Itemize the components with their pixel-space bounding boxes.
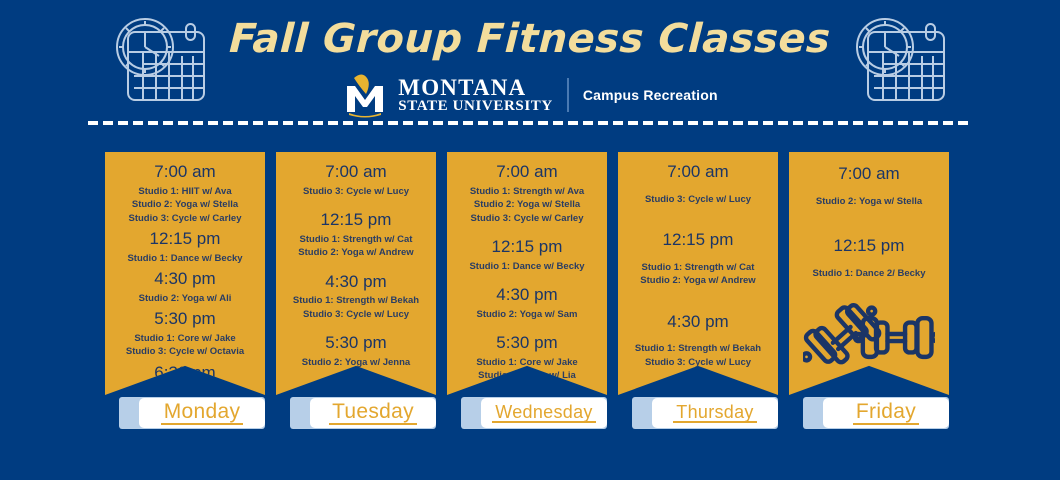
slot-class-list: Studio 2: Yoga w/ Ali [109, 292, 261, 305]
day-banner: 7:00 amStudio 3: Cycle w/ Lucy12:15 pmSt… [276, 152, 436, 395]
time-slot: 7:00 amStudio 3: Cycle w/ Lucy [280, 160, 432, 198]
time-slot: 4:30 pmStudio 1: Strength w/ BekahStudio… [280, 270, 432, 322]
slot-class-list: Studio 1: Core w/ JakeStudio 3: Cycle w/… [451, 356, 603, 383]
slot-time: 4:30 pm [622, 310, 774, 335]
day-label: Thursday [673, 403, 756, 424]
class-entry: Studio 2: Yoga w/ Stella [793, 195, 945, 208]
tab-plate: Tuesday [310, 398, 436, 428]
day-label-tab[interactable]: Tuesday [290, 397, 436, 429]
slot-time: 7:00 am [622, 160, 774, 185]
slot-class-list: Studio 2: Yoga w/ Stella [793, 195, 945, 208]
class-entry: Studio 3: Cycle w/ Octavia [109, 345, 261, 358]
class-entry: Studio 1: Strength w/ Bekah [280, 294, 432, 307]
day-label: Friday [853, 401, 919, 425]
dumbbells-icon [793, 298, 945, 370]
time-slot: 4:30 pmStudio 2: Yoga w/ Ali [109, 267, 261, 305]
class-entry: Studio 2: Yoga w/ Andrew [622, 274, 774, 287]
day-column-thursday: 7:00 amStudio 3: Cycle w/ Lucy12:15 pmSt… [618, 152, 778, 437]
slot-class-list: Studio 1: Strength w/ CatStudio 2: Yoga … [280, 233, 432, 260]
header-dashed-divider [88, 121, 972, 125]
tab-plate: Wednesday [481, 398, 607, 428]
msu-logo-icon [342, 72, 388, 118]
slot-class-list: Studio 1: Strength w/ BekahStudio 3: Cyc… [280, 294, 432, 321]
day-banner: 7:00 amStudio 1: HIIT w/ AvaStudio 2: Yo… [105, 152, 265, 395]
class-entry: Studio 1: HIIT w/ Ava [109, 185, 261, 198]
day-label: Monday [161, 401, 244, 425]
slot-time: 7:00 am [451, 160, 603, 185]
class-entry: Studio 2: Yoga w/ Ali [109, 292, 261, 305]
class-entry: Studio 1: Strength w/ Ava [451, 185, 603, 198]
weekly-schedule: 7:00 amStudio 1: HIIT w/ AvaStudio 2: Yo… [0, 152, 1060, 442]
slot-class-list: Studio 1: Dance w/ Becky [109, 252, 261, 265]
slot-class-list: Studio 2: Yoga w/ Jenna [280, 356, 432, 369]
msu-wordmark: MONTANA STATE UNIVERSITY [398, 76, 553, 114]
class-entry: Studio 3: Cycle w/ Lucy [622, 193, 774, 206]
slot-class-list: Studio 1: Core w/ JakeStudio 3: Cycle w/… [109, 332, 261, 359]
time-slot: 4:30 pmStudio 1: Strength w/ BekahStudio… [622, 310, 774, 370]
slot-class-list: Studio 1: HIIT w/ AvaStudio 2: Yoga w/ S… [109, 185, 261, 225]
tab-plate: Monday [139, 398, 265, 428]
time-slot: 12:15 pmStudio 1: Dance 2/ Becky [793, 234, 945, 280]
class-entry: Studio 1: Core w/ Jake [109, 332, 261, 345]
slot-time: 4:30 pm [451, 283, 603, 308]
day-column-monday: 7:00 amStudio 1: HIIT w/ AvaStudio 2: Yo… [105, 152, 265, 437]
day-banner: 7:00 amStudio 3: Cycle w/ Lucy12:15 pmSt… [618, 152, 778, 395]
day-label: Tuesday [329, 401, 417, 425]
slot-time: 5:30 pm [109, 307, 261, 332]
fitness-schedule-poster: Fall Group Fitness Classes MONTANA STATE… [0, 0, 1060, 480]
class-entry: Studio 1: Dance w/ Becky [109, 252, 261, 265]
class-entry: Studio 2: Yoga w/ Sam [451, 308, 603, 321]
class-entry: Studio 2: Yoga w/ Andrew [280, 246, 432, 259]
day-label-tab[interactable]: Thursday [632, 397, 778, 429]
brand-divider [567, 78, 569, 112]
class-entry: Studio 2: Yoga w/ Stella [109, 198, 261, 211]
slot-time: 6:30 pm [109, 361, 261, 386]
time-slot: 7:00 amStudio 1: Strength w/ AvaStudio 2… [451, 160, 603, 225]
class-entry: Studio 1: Core w/ Jake [451, 356, 603, 369]
tab-plate: Thursday [652, 398, 778, 428]
day-label-tab[interactable]: Friday [803, 397, 949, 429]
time-slot: 7:00 amStudio 3: Cycle w/ Lucy [622, 160, 774, 206]
slot-time: 12:15 pm [451, 235, 603, 260]
time-slot: 7:00 amStudio 2: Yoga w/ Stella [793, 162, 945, 208]
time-slot: 7:00 amStudio 1: HIIT w/ AvaStudio 2: Yo… [109, 160, 261, 225]
class-entry: Studio 1: Dance 2/ Becky [793, 267, 945, 280]
slot-time: 7:00 am [793, 162, 945, 187]
time-slot: 5:30 pmStudio 2: Yoga w/ Jenna [280, 331, 432, 369]
day-label-tab[interactable]: Wednesday [461, 397, 607, 429]
slot-time: 12:15 pm [109, 227, 261, 252]
slot-time: 7:00 am [109, 160, 261, 185]
day-column-tuesday: 7:00 amStudio 3: Cycle w/ Lucy12:15 pmSt… [276, 152, 436, 437]
class-entry: Studio 3: Cycle w/ Lucy [280, 185, 432, 198]
time-slot: 5:30 pmStudio 1: Core w/ JakeStudio 3: C… [451, 331, 603, 383]
msu-state-university-text: STATE UNIVERSITY [398, 99, 553, 114]
slot-time: 5:30 pm [451, 331, 603, 356]
slot-class-list: Studio 1: Strength w/ BekahStudio 3: Cyc… [622, 342, 774, 369]
campus-recreation-text: Campus Recreation [583, 87, 718, 103]
class-entry: Studio 3: Cycle w/ Lucy [280, 308, 432, 321]
day-column-wednesday: 7:00 amStudio 1: Strength w/ AvaStudio 2… [447, 152, 607, 437]
page-title: Fall Group Fitness Classes [0, 16, 1060, 62]
class-entry: Studio 3: Cycle w/ Lia [451, 369, 603, 382]
slot-time: 4:30 pm [109, 267, 261, 292]
slot-time: 7:00 am [280, 160, 432, 185]
class-entry: Studio 1: Dance w/ Becky [451, 260, 603, 273]
slot-class-list: Studio 1: Dance w/ Becky [451, 260, 603, 273]
slot-time: 12:15 pm [280, 208, 432, 233]
slot-class-list: Studio 1: Strength w/ AvaStudio 2: Yoga … [451, 185, 603, 225]
slot-class-list: Studio 1: Strength w/ CatStudio 2: Yoga … [622, 261, 774, 288]
slot-class-list: Studio 2: Yoga w/ Sam [451, 308, 603, 321]
day-label: Wednesday [492, 403, 595, 424]
slot-time: 12:15 pm [622, 228, 774, 253]
class-entry: Studio 1: Strength w/ Bekah [622, 342, 774, 355]
time-slot: 12:15 pmStudio 1: Dance w/ Becky [451, 235, 603, 273]
slot-class-list: Studio 3: Cycle w/ Lucy [280, 185, 432, 198]
slot-class-list: Studio 1: Dance 2/ Becky [793, 267, 945, 280]
poster-header: Fall Group Fitness Classes MONTANA STATE… [0, 0, 1060, 132]
slot-time: 12:15 pm [793, 234, 945, 259]
time-slot: 6:30 pmStudio 2: Yoga w/ Sylvie [109, 361, 261, 399]
time-slot: 12:15 pmStudio 1: Dance w/ Becky [109, 227, 261, 265]
class-entry: Studio 1: Strength w/ Cat [280, 233, 432, 246]
class-entry: Studio 3: Cycle w/ Lucy [622, 356, 774, 369]
msu-montana-text: MONTANA [398, 76, 553, 99]
day-banner: 7:00 amStudio 2: Yoga w/ Stella12:15 pmS… [789, 152, 949, 395]
day-label-tab[interactable]: Monday [119, 397, 265, 429]
class-entry: Studio 2: Yoga w/ Jenna [280, 356, 432, 369]
day-banner: 7:00 amStudio 1: Strength w/ AvaStudio 2… [447, 152, 607, 395]
time-slot: 5:30 pmStudio 1: Core w/ JakeStudio 3: C… [109, 307, 261, 359]
time-slot: 4:30 pmStudio 2: Yoga w/ Sam [451, 283, 603, 321]
time-slot: 12:15 pmStudio 1: Strength w/ CatStudio … [622, 228, 774, 288]
class-entry: Studio 1: Strength w/ Cat [622, 261, 774, 274]
tab-plate: Friday [823, 398, 949, 428]
brand-lockup: MONTANA STATE UNIVERSITY Campus Recreati… [0, 72, 1060, 118]
slot-class-list: Studio 3: Cycle w/ Lucy [622, 193, 774, 206]
slot-time: 5:30 pm [280, 331, 432, 356]
class-entry: Studio 3: Cycle w/ Carley [451, 212, 603, 225]
dumbbells-icon [803, 298, 935, 370]
day-column-friday: 7:00 amStudio 2: Yoga w/ Stella12:15 pmS… [789, 152, 949, 437]
time-slot: 12:15 pmStudio 1: Strength w/ CatStudio … [280, 208, 432, 260]
slot-time: 4:30 pm [280, 270, 432, 295]
class-entry: Studio 2: Yoga w/ Stella [451, 198, 603, 211]
class-entry: Studio 3: Cycle w/ Carley [109, 212, 261, 225]
